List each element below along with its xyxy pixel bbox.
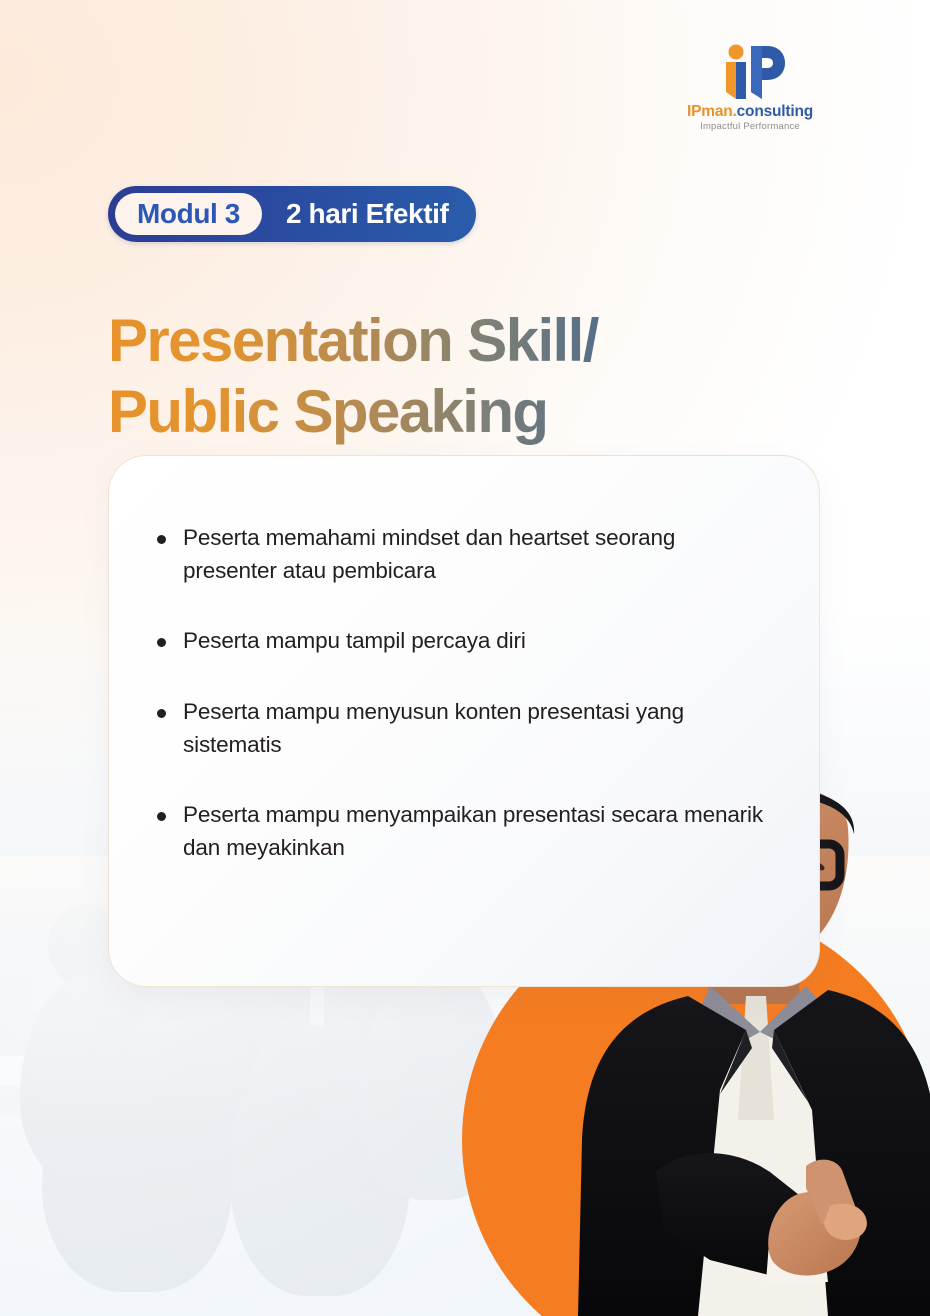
brand-logo: IPman.consulting Impactful Performance (662, 40, 838, 132)
objectives-card: Peserta memahami mindset dan heartset se… (108, 455, 820, 987)
brand-name-part1: IPman. (687, 103, 737, 120)
bullet-icon (157, 638, 166, 647)
module-badge: Modul 3 2 hari Efektif (108, 186, 476, 242)
list-item: Peserta mampu menyusun konten presentasi… (153, 696, 773, 761)
list-item-text: Peserta mampu menyusun konten presentasi… (183, 699, 684, 757)
ipman-logo-icon (715, 40, 785, 100)
duration-label: 2 hari Efektif (286, 198, 448, 230)
poster-slide: IPman.consulting Impactful Performance M… (0, 0, 930, 1316)
list-item: Peserta mampu tampil percaya diri (153, 625, 773, 658)
bullet-icon (157, 535, 166, 544)
module-label: Modul 3 (115, 193, 262, 235)
list-item-text: Peserta memahami mindset dan heartset se… (183, 525, 675, 583)
objectives-list: Peserta memahami mindset dan heartset se… (153, 522, 773, 864)
list-item-text: Peserta mampu tampil percaya diri (183, 628, 526, 653)
brand-name-part2: consulting (737, 103, 813, 120)
bullet-icon (157, 812, 166, 821)
list-item-text: Peserta mampu menyampaikan presentasi se… (183, 802, 763, 860)
list-item: Peserta mampu menyampaikan presentasi se… (153, 799, 773, 864)
bullet-icon (157, 709, 166, 718)
page-title-line-1: Presentation Skill/ (108, 306, 808, 377)
brand-tagline: Impactful Performance (662, 121, 838, 132)
brand-name: IPman.consulting (662, 104, 838, 120)
list-item: Peserta memahami mindset dan heartset se… (153, 522, 773, 587)
page-title-line-2: Public Speaking (108, 377, 808, 448)
page-title: Presentation Skill/ Public Speaking (108, 306, 808, 448)
